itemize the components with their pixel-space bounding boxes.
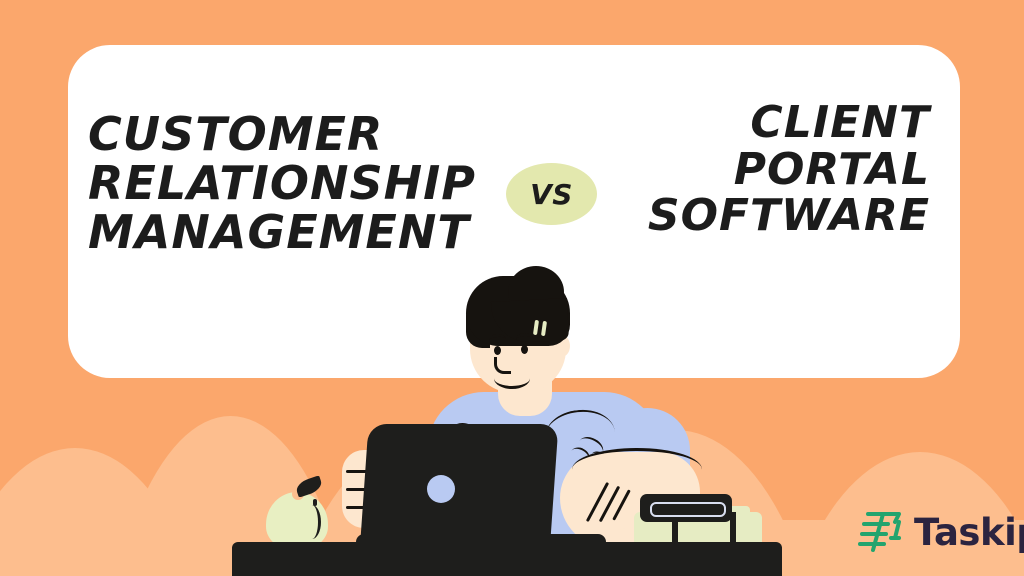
heading-left-line-3: MANAGEMENT bbox=[88, 208, 488, 257]
heading-right-line-2: PORTAL bbox=[600, 147, 930, 194]
laptop-logo-icon bbox=[427, 475, 455, 503]
person-hand-right bbox=[572, 468, 638, 530]
heading-right-line-1: CLIENT bbox=[600, 100, 930, 147]
brand-name: Taskip bbox=[914, 514, 1024, 551]
heading-right: CLIENT PORTAL SOFTWARE bbox=[600, 100, 930, 240]
person-eyebrow bbox=[516, 332, 534, 345]
vs-badge-label: VS bbox=[530, 178, 573, 211]
brand-logo[interactable]: Taskip bbox=[855, 508, 1024, 556]
apple-highlight-dot bbox=[313, 499, 317, 506]
slide-canvas: CUSTOMER RELATIONSHIP MANAGEMENT CLIENT … bbox=[0, 0, 1024, 576]
heading-left-line-2: RELATIONSHIP bbox=[88, 159, 488, 208]
desk-surface bbox=[232, 542, 782, 576]
taskip-mark-icon bbox=[855, 508, 905, 556]
person-eye bbox=[521, 345, 528, 354]
vs-badge: VS bbox=[506, 163, 597, 225]
person-mouth bbox=[494, 368, 530, 389]
heading-left: CUSTOMER RELATIONSHIP MANAGEMENT bbox=[88, 110, 488, 256]
heading-left-line-1: CUSTOMER bbox=[88, 110, 488, 159]
person-eye bbox=[494, 346, 501, 355]
heading-right-line-3: SOFTWARE bbox=[600, 193, 930, 240]
desk-organizer-slot bbox=[650, 502, 726, 517]
person-eyebrow bbox=[488, 333, 506, 347]
